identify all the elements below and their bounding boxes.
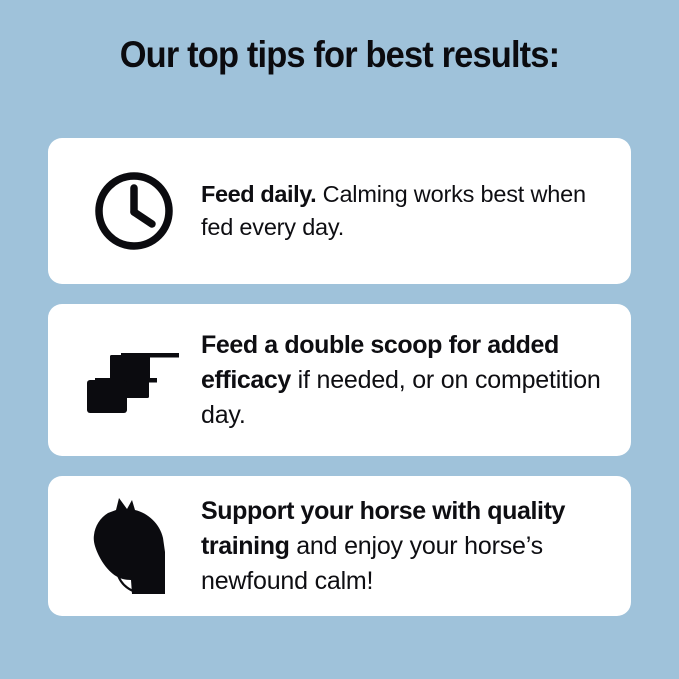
tip-text-cell: Feed daily. Calming works best when fed … (201, 178, 613, 244)
double-scoop-icon (66, 344, 201, 416)
clock-icon (66, 169, 201, 253)
tip-card-quality-training: Support your horse with quality training… (48, 476, 631, 616)
tip-text-cell: Feed a double scoop for added efficacy i… (201, 328, 613, 433)
horse-head-icon (66, 494, 201, 598)
tip-card-double-scoop: Feed a double scoop for added efficacy i… (48, 304, 631, 456)
tip-paragraph: Feed daily. Calming works best when fed … (201, 178, 609, 244)
page-title: Our top tips for best results: (24, 33, 655, 77)
tip-paragraph: Support your horse with quality training… (201, 494, 609, 599)
tips-card-list: Feed daily. Calming works best when fed … (48, 138, 631, 616)
tips-page: Our top tips for best results: Feed dail… (0, 0, 679, 679)
tip-card-feed-daily: Feed daily. Calming works best when fed … (48, 138, 631, 284)
tip-paragraph: Feed a double scoop for added efficacy i… (201, 328, 609, 433)
tip-separator (291, 366, 298, 394)
tip-text-cell: Support your horse with quality training… (201, 494, 613, 599)
tip-lead: Feed daily. (201, 181, 316, 207)
